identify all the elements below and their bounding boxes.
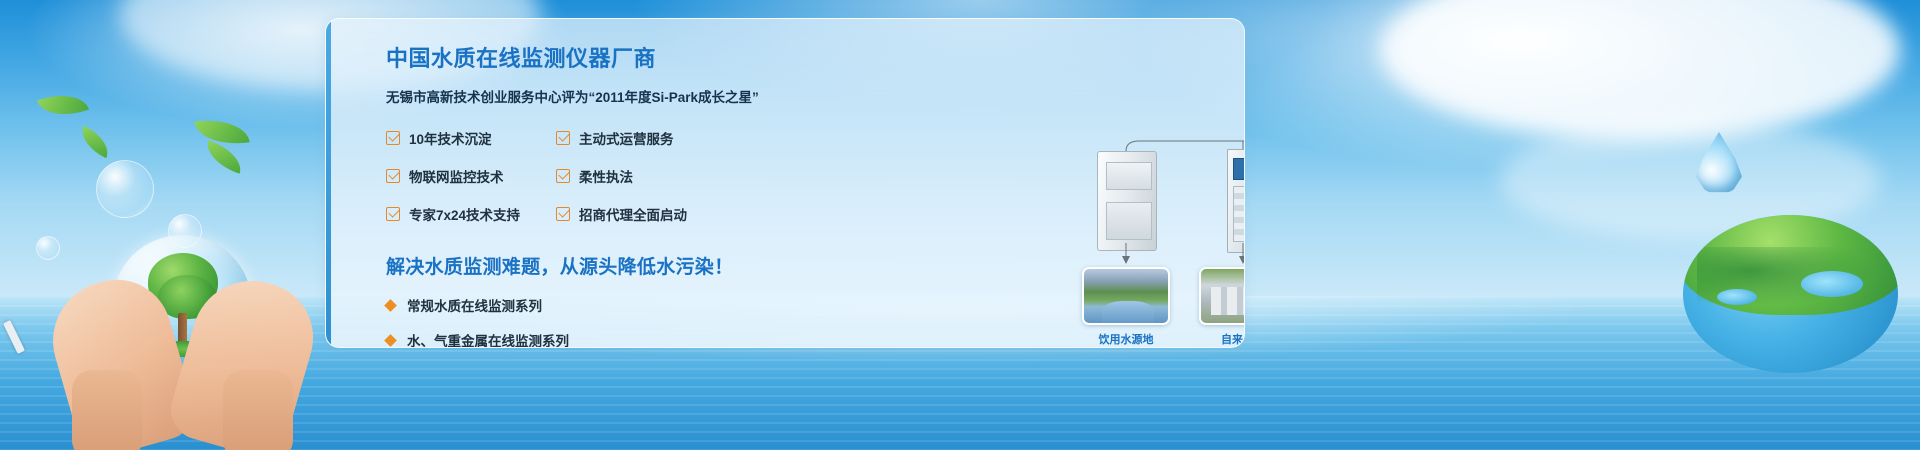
- checkbox-icon: [386, 131, 400, 145]
- feature-label: 柔性执法: [579, 166, 633, 186]
- category-title-waterworks: 自来水厂: [1188, 331, 1245, 347]
- panel-accent-bar: [326, 19, 331, 347]
- list-item-label: 常规水质在线监测系列: [407, 295, 542, 315]
- earth-land: [1683, 215, 1898, 315]
- cabinet-icon: [1097, 151, 1157, 251]
- device-arrows: [1071, 243, 1245, 265]
- hands-illustration: [60, 225, 305, 450]
- checkbox-icon: [556, 169, 570, 183]
- earth-lake: [1801, 271, 1863, 297]
- feature-item[interactable]: 柔性执法: [556, 166, 756, 186]
- device-waterworks-rack: [1213, 149, 1245, 253]
- diamond-bullet-icon: [384, 334, 397, 347]
- earth-lake-secondary: [1717, 289, 1757, 305]
- feature-item[interactable]: 10年技术沉淀: [386, 128, 556, 148]
- system-diagram: 监控中心站: [1071, 47, 1245, 347]
- bubble-decoration: [36, 236, 60, 260]
- feature-label: 主动式运营服务: [579, 128, 674, 148]
- device-water-source-cabinet: [1091, 151, 1163, 255]
- product-series-list: 常规水质在线监测系列 水、气重金属在线监测系列 CEMS、TVOCs、PM2.5…: [386, 295, 806, 348]
- right-wrist: [223, 370, 293, 450]
- bubble-decoration: [96, 160, 154, 218]
- checkbox-icon: [556, 131, 570, 145]
- list-item[interactable]: 水、气重金属在线监测系列: [386, 330, 806, 348]
- category-desc-drinking-water-source: 浊度、PH、溶解氧、浊度、藻类、COD、叶绿素、蓝绿藻、生物毒性等。: [1081, 347, 1171, 348]
- earth-illustration: [1683, 215, 1898, 373]
- feature-label: 10年技术沉淀: [409, 128, 492, 148]
- panel-left-column: 中国水质在线监测仪器厂商 无锡市高新技术创业服务中心评为“2011年度Si-Pa…: [386, 41, 806, 348]
- list-item[interactable]: 常规水质在线监测系列: [386, 295, 806, 315]
- feature-item[interactable]: 专家7x24技术支持: [386, 204, 556, 224]
- category-title-drinking-water-source: 饮用水源地: [1071, 331, 1181, 347]
- feature-item[interactable]: 主动式运营服务: [556, 128, 756, 148]
- feature-label: 物联网监控技术: [409, 166, 504, 186]
- feature-item[interactable]: 招商代理全面启动: [556, 204, 756, 224]
- feature-list: 10年技术沉淀 主动式运营服务 物联网监控技术 柔性执法 专家7x24技术支持: [386, 128, 806, 224]
- checkbox-icon: [386, 207, 400, 221]
- feature-label: 招商代理全面启动: [579, 204, 687, 224]
- photo-drinking-water-source: [1082, 267, 1170, 325]
- diamond-bullet-icon: [384, 299, 397, 312]
- banner-stage: 中国水质在线监测仪器厂商 无锡市高新技术创业服务中心评为“2011年度Si-Pa…: [0, 0, 1920, 450]
- page-title: 中国水质在线监测仪器厂商: [386, 41, 806, 73]
- photo-waterworks: [1199, 267, 1245, 325]
- rack-icon: [1227, 149, 1245, 253]
- checkbox-icon: [386, 169, 400, 183]
- list-item-label: 水、气重金属在线监测系列: [407, 330, 569, 348]
- content-panel: 中国水质在线监测仪器厂商 无锡市高新技术创业服务中心评为“2011年度Si-Pa…: [325, 18, 1245, 348]
- left-wrist: [72, 370, 142, 450]
- monitoring-center-label: 监控中心站: [1221, 109, 1245, 125]
- feature-label: 专家7x24技术支持: [409, 204, 520, 224]
- checkbox-icon: [556, 207, 570, 221]
- page-subtitle: 无锡市高新技术创业服务中心评为“2011年度Si-Park成长之星”: [386, 86, 806, 106]
- section-title: 解决水质监测难题，从源头降低水污染！: [386, 252, 806, 279]
- feature-item[interactable]: 物联网监控技术: [386, 166, 556, 186]
